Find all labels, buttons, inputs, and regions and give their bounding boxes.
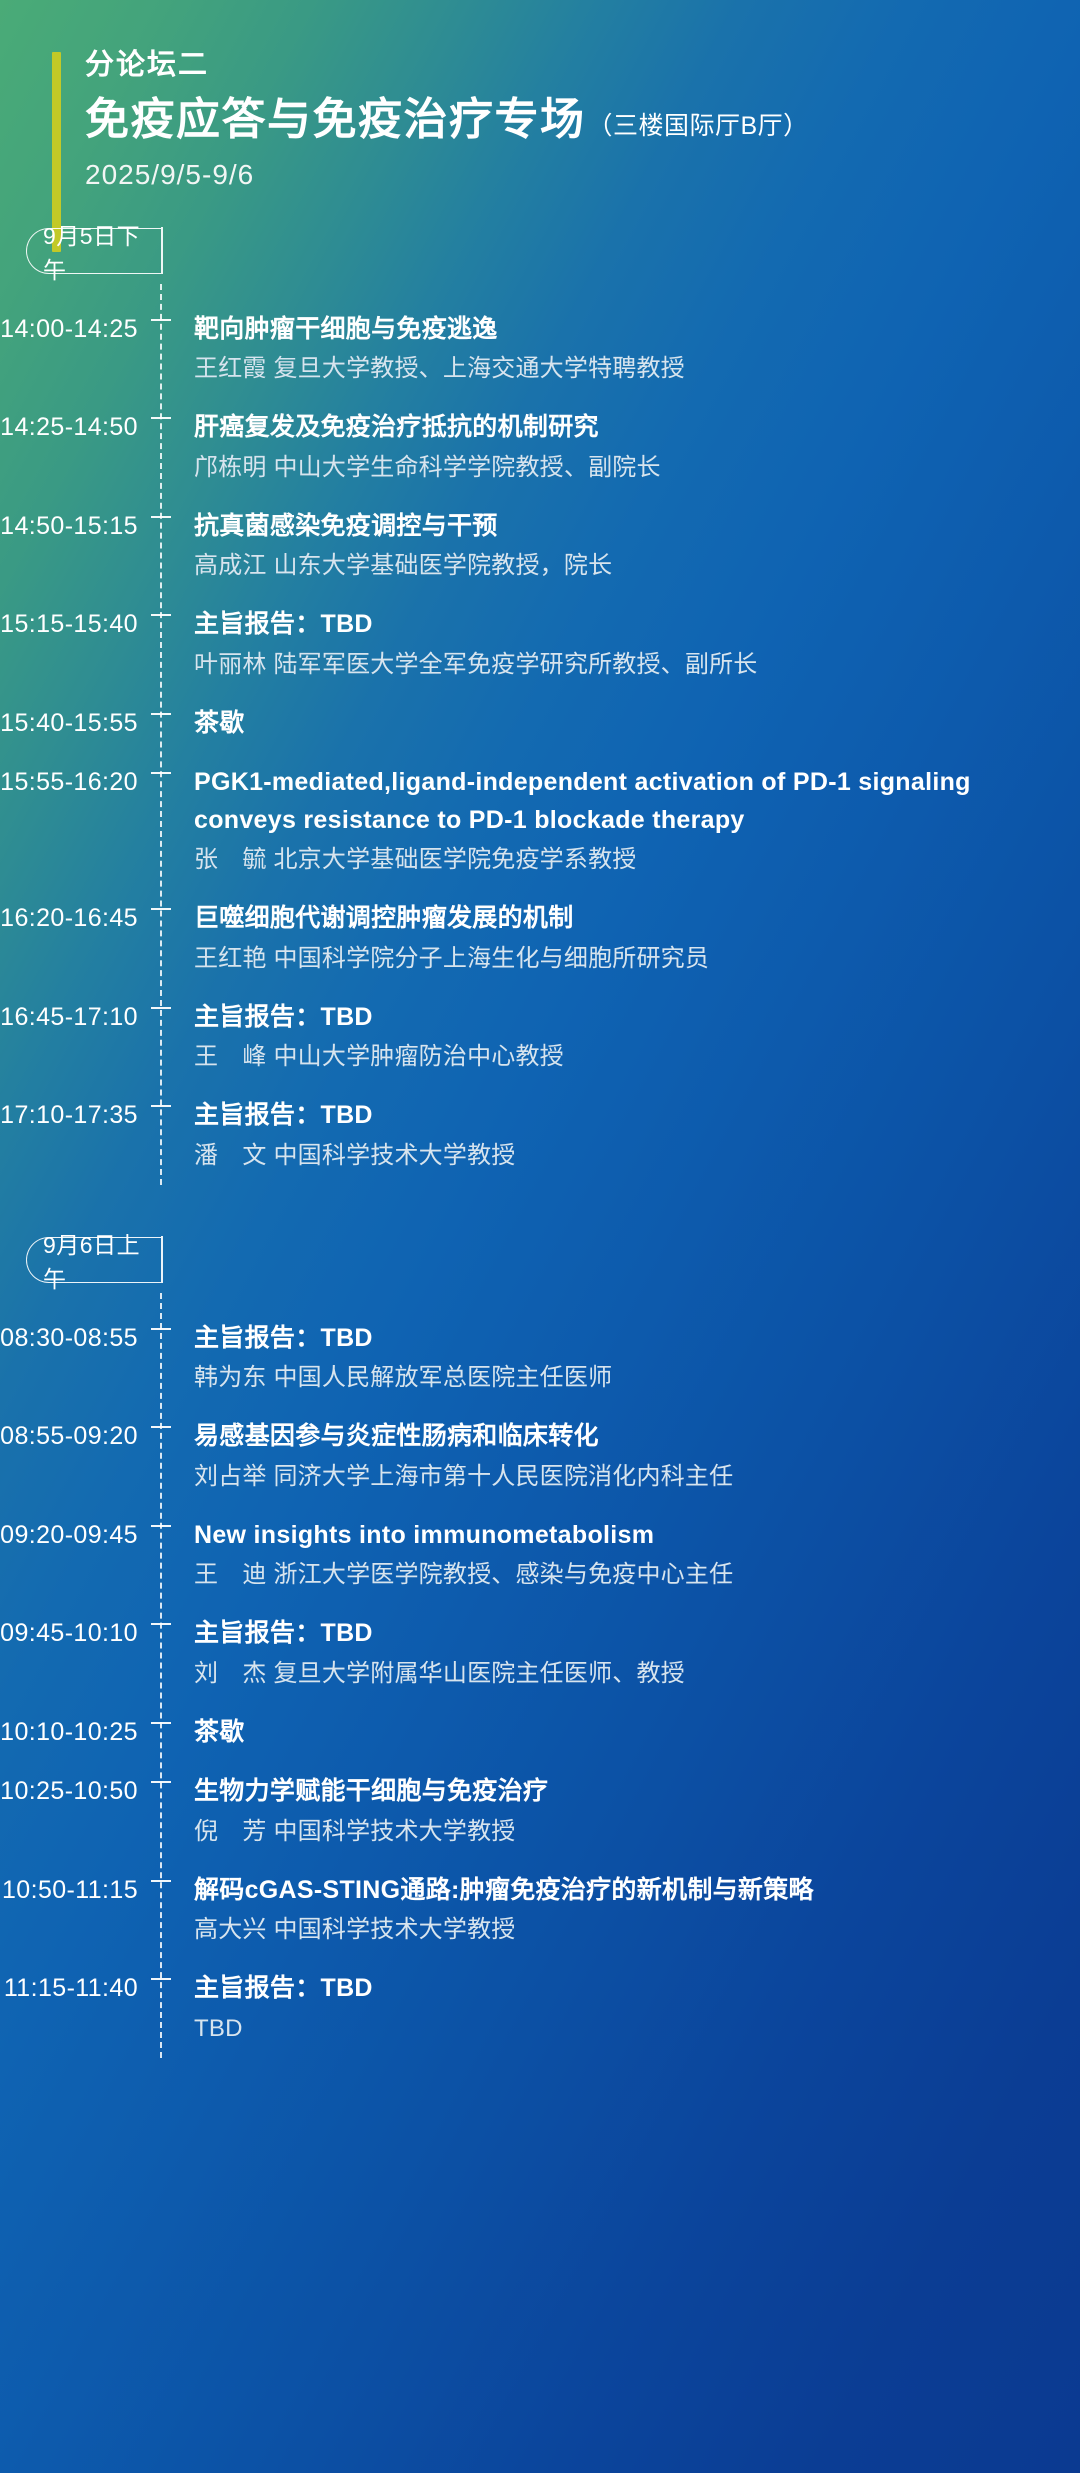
- page-title: 免疫应答与免疫治疗专场: [85, 91, 586, 148]
- session-row: 09:20-09:45New insights into immunometab…: [0, 1506, 1080, 1605]
- timeline-tick-icon: [151, 908, 171, 910]
- venue-label: （三楼国际厅B厅）: [588, 106, 809, 142]
- session-body: 主旨报告：TBD潘 文 中国科学技术大学教授: [160, 1097, 1034, 1174]
- session-title: 主旨报告：TBD: [194, 1970, 1034, 2008]
- session-list: 08:30-08:55主旨报告：TBD韩为东 中国人民解放军总医院主任医师08:…: [0, 1293, 1080, 2058]
- session-title: 易感基因参与炎症性肠病和临床转化: [194, 1418, 1034, 1456]
- session-body: 肝癌复发及免疫治疗抵抗的机制研究邝栋明 中山大学生命科学学院教授、副院长: [160, 409, 1034, 486]
- timeline-tick-icon: [151, 1623, 171, 1625]
- session-speaker: 王 迪 浙江大学医学院教授、感染与免疫中心主任: [194, 1557, 1034, 1593]
- timeline-tick-icon: [151, 1978, 171, 1980]
- session-row: 15:40-15:55茶歇: [0, 694, 1080, 754]
- day-block: 9月5日下午14:00-14:25靶向肿瘤干细胞与免疫逃逸王红霞 复旦大学教授、…: [0, 228, 1080, 1185]
- date-range: 2025/9/5-9/6: [85, 157, 1080, 193]
- session-speaker: 高成江 山东大学基础医学院教授，院长: [194, 548, 1034, 584]
- session-time: 16:20-16:45: [0, 900, 160, 938]
- session-row: 15:55-16:20PGK1-mediated,ligand-independ…: [0, 753, 1080, 889]
- timeline-tick-icon: [151, 713, 171, 715]
- session-title: 靶向肿瘤干细胞与免疫逃逸: [194, 311, 1034, 349]
- session-body: 生物力学赋能干细胞与免疫治疗倪 芳 中国科学技术大学教授: [160, 1773, 1034, 1850]
- session-body: 主旨报告：TBD叶丽林 陆军军医大学全军免疫学研究所教授、副所长: [160, 606, 1034, 683]
- session-speaker: 刘 杰 复旦大学附属华山医院主任医师、教授: [194, 1656, 1034, 1692]
- session-time: 14:00-14:25: [0, 311, 160, 349]
- timeline-tick-icon: [151, 1525, 171, 1527]
- title-row: 免疫应答与免疫治疗专场 （三楼国际厅B厅）: [85, 91, 1080, 148]
- session-row: 14:50-15:15抗真菌感染免疫调控与干预高成江 山东大学基础医学院教授，院…: [0, 497, 1080, 596]
- session-title: 主旨报告：TBD: [194, 606, 1034, 644]
- session-time: 08:30-08:55: [0, 1320, 160, 1358]
- session-row: 10:50-11:15解码cGAS-STING通路:肿瘤免疫治疗的新机制与新策略…: [0, 1861, 1080, 1960]
- session-speaker: 潘 文 中国科学技术大学教授: [194, 1138, 1034, 1174]
- session-body: 抗真菌感染免疫调控与干预高成江 山东大学基础医学院教授，院长: [160, 508, 1034, 585]
- session-time: 15:40-15:55: [0, 705, 160, 743]
- session-time: 15:15-15:40: [0, 606, 160, 644]
- session-speaker: 叶丽林 陆军军医大学全军免疫学研究所教授、副所长: [194, 647, 1034, 683]
- session-time: 09:45-10:10: [0, 1615, 160, 1653]
- session-body: 易感基因参与炎症性肠病和临床转化刘占举 同济大学上海市第十人民医院消化内科主任: [160, 1418, 1034, 1495]
- session-body: New insights into immunometabolism王 迪 浙江…: [160, 1517, 1034, 1594]
- timeline-tick-icon: [151, 516, 171, 518]
- session-title: 主旨报告：TBD: [194, 1320, 1034, 1358]
- day-badge: 9月5日下午: [26, 228, 161, 274]
- session-body: 主旨报告：TBDTBD: [160, 1970, 1034, 2047]
- session-body: 主旨报告：TBD王 峰 中山大学肿瘤防治中心教授: [160, 999, 1034, 1076]
- session-body: 主旨报告：TBD韩为东 中国人民解放军总医院主任医师: [160, 1320, 1034, 1397]
- session-row: 16:20-16:45巨噬细胞代谢调控肿瘤发展的机制王红艳 中国科学院分子上海生…: [0, 889, 1080, 988]
- session-time: 15:55-16:20: [0, 764, 160, 802]
- session-body: 茶歇: [160, 1714, 1034, 1752]
- session-list: 14:00-14:25靶向肿瘤干细胞与免疫逃逸王红霞 复旦大学教授、上海交通大学…: [0, 284, 1080, 1185]
- session-speaker: 刘占举 同济大学上海市第十人民医院消化内科主任: [194, 1459, 1034, 1495]
- session-speaker: TBD: [194, 2011, 1034, 2047]
- timeline-tick-icon: [151, 1328, 171, 1330]
- day-separator: [0, 1185, 1080, 1237]
- session-row: 11:15-11:40主旨报告：TBDTBD: [0, 1959, 1080, 2058]
- session-title: 解码cGAS-STING通路:肿瘤免疫治疗的新机制与新策略: [194, 1872, 1034, 1910]
- session-row: 10:10-10:25茶歇: [0, 1703, 1080, 1763]
- session-row: 09:45-10:10主旨报告：TBD刘 杰 复旦大学附属华山医院主任医师、教授: [0, 1604, 1080, 1703]
- session-body: 主旨报告：TBD刘 杰 复旦大学附属华山医院主任医师、教授: [160, 1615, 1034, 1692]
- session-time: 10:10-10:25: [0, 1714, 160, 1752]
- timeline-tick-icon: [151, 1105, 171, 1107]
- session-title: 生物力学赋能干细胞与免疫治疗: [194, 1773, 1034, 1811]
- session-speaker: 王红艳 中国科学院分子上海生化与细胞所研究员: [194, 941, 1034, 977]
- session-title: PGK1-mediated,ligand-independent activat…: [194, 764, 1034, 839]
- session-title: 主旨报告：TBD: [194, 1615, 1034, 1653]
- session-title: 肝癌复发及免疫治疗抵抗的机制研究: [194, 409, 1034, 447]
- timeline-tick-icon: [151, 1880, 171, 1882]
- session-speaker: 韩为东 中国人民解放军总医院主任医师: [194, 1360, 1034, 1396]
- session-time: 11:15-11:40: [0, 1970, 160, 2008]
- session-speaker: 高大兴 中国科学技术大学教授: [194, 1912, 1034, 1948]
- session-time: 08:55-09:20: [0, 1418, 160, 1456]
- session-body: 巨噬细胞代谢调控肿瘤发展的机制王红艳 中国科学院分子上海生化与细胞所研究员: [160, 900, 1034, 977]
- session-time: 09:20-09:45: [0, 1517, 160, 1555]
- session-row: 17:10-17:35主旨报告：TBD潘 文 中国科学技术大学教授: [0, 1086, 1080, 1185]
- session-title: 茶歇: [194, 705, 1034, 743]
- session-time: 17:10-17:35: [0, 1097, 160, 1135]
- timeline-tick-icon: [151, 1722, 171, 1724]
- day-badge: 9月6日上午: [26, 1237, 161, 1283]
- session-speaker: 张 毓 北京大学基础医学院免疫学系教授: [194, 842, 1034, 878]
- session-speaker: 倪 芳 中国科学技术大学教授: [194, 1814, 1034, 1850]
- session-speaker: 王 峰 中山大学肿瘤防治中心教授: [194, 1039, 1034, 1075]
- timeline-tick-icon: [151, 772, 171, 774]
- session-speaker: 王红霞 复旦大学教授、上海交通大学特聘教授: [194, 351, 1034, 387]
- timeline-tick-icon: [151, 1781, 171, 1783]
- session-title: 抗真菌感染免疫调控与干预: [194, 508, 1034, 546]
- session-time: 14:50-15:15: [0, 508, 160, 546]
- session-title: 茶歇: [194, 1714, 1034, 1752]
- session-row: 14:25-14:50肝癌复发及免疫治疗抵抗的机制研究邝栋明 中山大学生命科学学…: [0, 398, 1080, 497]
- session-title: New insights into immunometabolism: [194, 1517, 1034, 1555]
- session-time: 16:45-17:10: [0, 999, 160, 1037]
- session-body: 靶向肿瘤干细胞与免疫逃逸王红霞 复旦大学教授、上海交通大学特聘教授: [160, 311, 1034, 388]
- session-speaker: 邝栋明 中山大学生命科学学院教授、副院长: [194, 450, 1034, 486]
- timeline-tick-icon: [151, 1426, 171, 1428]
- session-row: 14:00-14:25靶向肿瘤干细胞与免疫逃逸王红霞 复旦大学教授、上海交通大学…: [0, 300, 1080, 399]
- day-badge-wrap: 9月5日下午: [0, 228, 1080, 274]
- timeline-tick-icon: [151, 614, 171, 616]
- day-block: 9月6日上午08:30-08:55主旨报告：TBD韩为东 中国人民解放军总医院主…: [0, 1237, 1080, 2058]
- schedule: 9月5日下午14:00-14:25靶向肿瘤干细胞与免疫逃逸王红霞 复旦大学教授、…: [0, 228, 1080, 2098]
- session-time: 10:50-11:15: [0, 1872, 160, 1910]
- session-body: 茶歇: [160, 705, 1034, 743]
- timeline-tick-icon: [151, 1007, 171, 1009]
- timeline-tick-icon: [151, 417, 171, 419]
- session-time: 10:25-10:50: [0, 1773, 160, 1811]
- forum-label: 分论坛二: [85, 46, 1080, 85]
- session-body: 解码cGAS-STING通路:肿瘤免疫治疗的新机制与新策略高大兴 中国科学技术大…: [160, 1872, 1034, 1949]
- session-title: 巨噬细胞代谢调控肿瘤发展的机制: [194, 900, 1034, 938]
- session-title: 主旨报告：TBD: [194, 1097, 1034, 1135]
- day-badge-wrap: 9月6日上午: [0, 1237, 1080, 1283]
- session-time: 14:25-14:50: [0, 409, 160, 447]
- session-row: 15:15-15:40主旨报告：TBD叶丽林 陆军军医大学全军免疫学研究所教授、…: [0, 595, 1080, 694]
- session-title: 主旨报告：TBD: [194, 999, 1034, 1037]
- session-body: PGK1-mediated,ligand-independent activat…: [160, 764, 1034, 878]
- timeline-tick-icon: [151, 319, 171, 321]
- session-row: 08:55-09:20易感基因参与炎症性肠病和临床转化刘占举 同济大学上海市第十…: [0, 1407, 1080, 1506]
- session-row: 16:45-17:10主旨报告：TBD王 峰 中山大学肿瘤防治中心教授: [0, 988, 1080, 1087]
- poster-header: 分论坛二 免疫应答与免疫治疗专场 （三楼国际厅B厅） 2025/9/5-9/6: [0, 0, 1080, 228]
- session-row: 10:25-10:50生物力学赋能干细胞与免疫治疗倪 芳 中国科学技术大学教授: [0, 1762, 1080, 1861]
- session-row: 08:30-08:55主旨报告：TBD韩为东 中国人民解放军总医院主任医师: [0, 1309, 1080, 1408]
